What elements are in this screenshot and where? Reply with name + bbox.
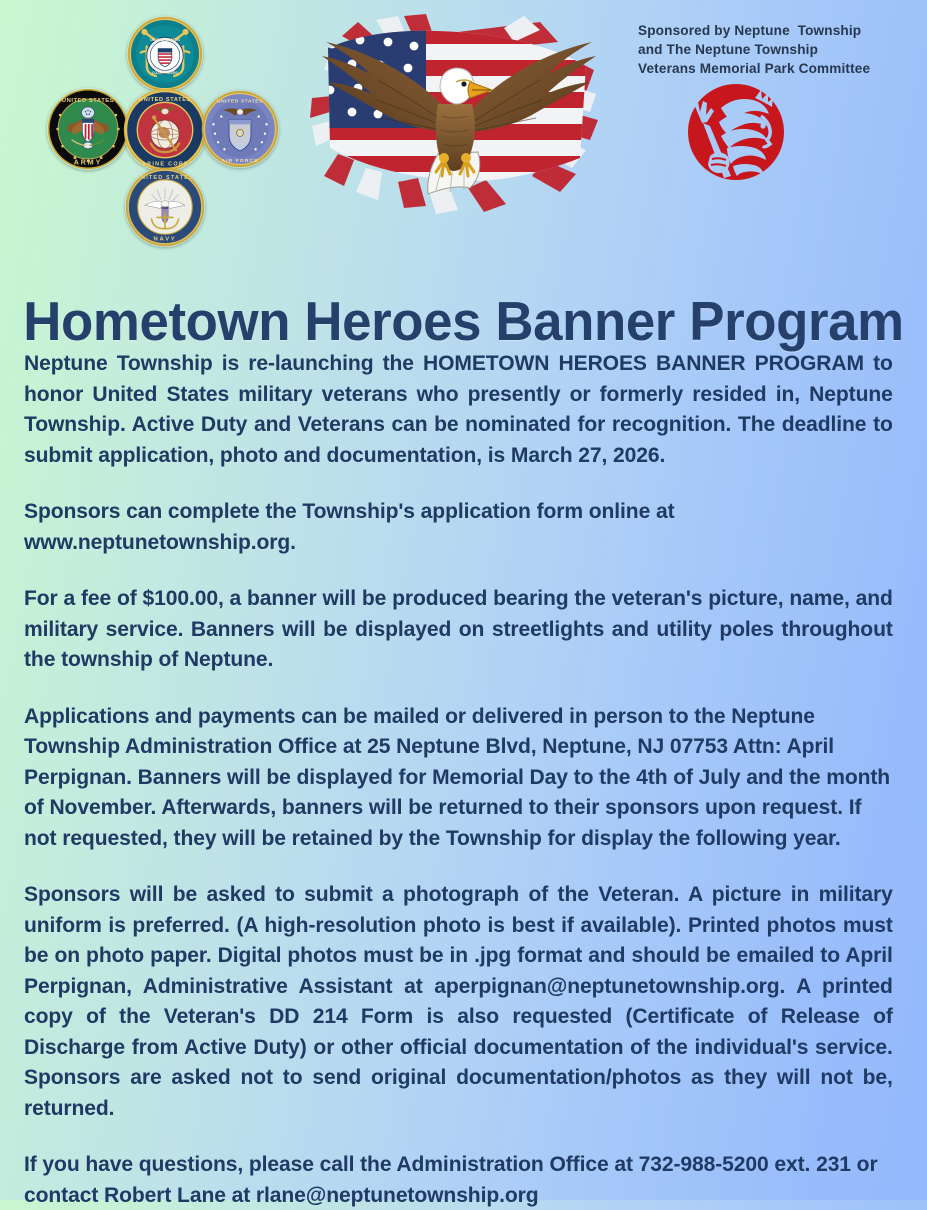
paragraph-fee: For a fee of $100.00, a banner will be p… <box>24 583 893 675</box>
svg-text:UNITED STATES: UNITED STATES <box>136 175 194 181</box>
flyer-page: UNITED STATES COAST GUARD <box>0 0 927 1200</box>
svg-text:ARMY: ARMY <box>74 159 103 166</box>
coast-guard-seal-icon: UNITED STATES COAST GUARD <box>127 16 203 92</box>
navy-seal-icon: UNITED STATES NAVY <box>125 167 205 247</box>
army-seal-icon: UNITED STATES ARMY <box>47 88 129 170</box>
svg-text:UNITED STATES: UNITED STATES <box>139 97 191 103</box>
svg-text:COAST GUARD: COAST GUARD <box>152 71 178 75</box>
air-force-seal-icon: UNITED STATES AIR FORCE <box>201 90 279 168</box>
paragraph-application-online: Sponsors can complete the Township's app… <box>24 496 893 557</box>
svg-text:UNITED STATES: UNITED STATES <box>150 38 180 42</box>
page-title: Hometown Heroes Banner Program <box>19 289 909 353</box>
sponsor-line-3: Veterans Memorial Park Committee <box>638 59 908 78</box>
svg-text:NAVY: NAVY <box>153 237 176 243</box>
neptune-township-logo-icon <box>669 82 804 182</box>
paragraph-intro: Neptune Township is re-launching the HOM… <box>24 348 893 470</box>
eagle-with-flag-icon <box>308 8 600 220</box>
svg-text:AIR FORCE: AIR FORCE <box>221 158 258 164</box>
sponsor-credit: Sponsored by Neptune Township and The Ne… <box>638 21 908 78</box>
sponsor-line-1: Sponsored by Neptune Township <box>638 21 908 40</box>
svg-text:UNITED STATES: UNITED STATES <box>217 98 263 104</box>
svg-text:UNITED STATES: UNITED STATES <box>62 98 114 104</box>
marine-corps-seal-icon: UNITED STATES MARINE CORPS <box>123 88 207 172</box>
flyer-body: Neptune Township is re-launching the HOM… <box>24 348 906 1210</box>
paragraph-mailing: Applications and payments can be mailed … <box>24 701 893 854</box>
flyer-header: UNITED STATES COAST GUARD <box>0 0 927 250</box>
paragraph-questions: If you have questions, please call the A… <box>24 1149 893 1210</box>
military-service-seals: UNITED STATES COAST GUARD <box>34 12 294 247</box>
sponsor-line-2: and The Neptune Township <box>638 40 908 59</box>
paragraph-photo: Sponsors will be asked to submit a photo… <box>24 879 893 1123</box>
